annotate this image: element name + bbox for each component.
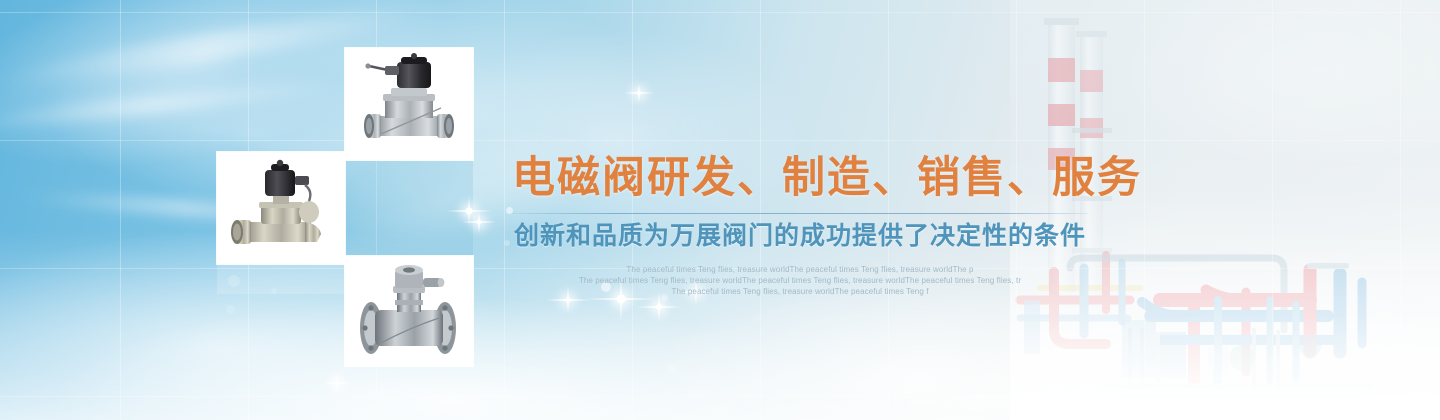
- process-vessels: [1122, 320, 1321, 380]
- solenoid-valve-flanged-icon: [345, 256, 473, 366]
- bokeh-dot: [271, 288, 277, 294]
- banner-headline: 电磁阀研发、制造、销售、服务: [512, 152, 1088, 204]
- filler-line: The peaceful times Teng flies, treasure …: [512, 286, 1088, 297]
- product-thumbnail-2[interactable]: [217, 152, 345, 264]
- bokeh-dot: [226, 305, 235, 314]
- sparkle-icon: [462, 205, 496, 239]
- product-thumbnail-3[interactable]: [345, 256, 473, 366]
- bokeh-dot: [504, 240, 510, 246]
- filler-line: The peaceful times Teng flies, treasure …: [512, 275, 1088, 286]
- cloud-wisp: [640, 280, 1200, 420]
- sparkle-icon: [322, 368, 352, 398]
- banner-filler-text: The peaceful times Teng flies, treasure …: [512, 264, 1088, 297]
- solenoid-valve-brass-icon: [217, 152, 345, 264]
- cloud-streak: [760, 390, 1380, 416]
- sparkle-icon: [446, 188, 492, 234]
- grid-cell-tint: [217, 264, 345, 294]
- cloud-streak: [0, 76, 340, 134]
- filler-line: The peaceful times Teng flies, treasure …: [512, 264, 1088, 275]
- headline-divider: [512, 213, 1088, 214]
- bokeh-dot: [667, 364, 676, 373]
- sparkle-icon: [624, 78, 654, 108]
- cloud-wisp: [1120, 0, 1440, 170]
- product-thumbnail-1[interactable]: [345, 48, 473, 160]
- grid-cell-tint: [345, 160, 473, 256]
- pipe-module: [1070, 258, 1370, 396]
- bokeh-dot: [228, 275, 240, 287]
- banner-text-block: 电磁阀研发、制造、销售、服务 创新和品质为万展阀门的成功提供了决定性的条件 Th…: [512, 152, 1088, 297]
- solenoid-valve-threaded-icon: [345, 48, 473, 160]
- cloud-streak: [900, 351, 1440, 400]
- hero-banner: 电磁阀研发、制造、销售、服务 创新和品质为万展阀门的成功提供了决定性的条件 Th…: [0, 0, 1440, 420]
- banner-subheadline: 创新和品质为万展阀门的成功提供了决定性的条件: [512, 220, 1088, 252]
